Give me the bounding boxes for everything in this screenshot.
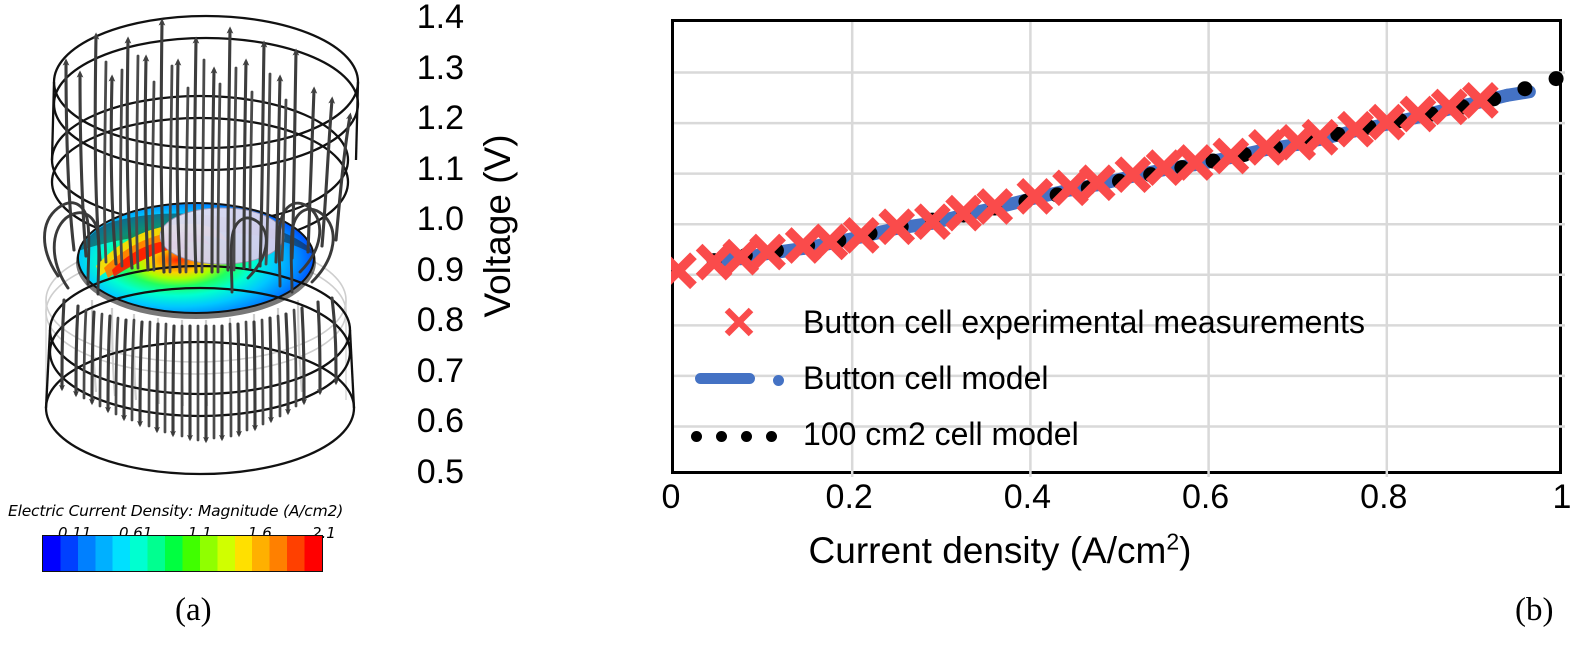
y-tick-1.0: 1.0 xyxy=(394,202,464,236)
panel-a: Electric Current Density: Magnitude (A/c… xyxy=(0,0,430,648)
3d-current-density-streamlines xyxy=(0,0,430,500)
x-axis-title: Current density (A/cm2) xyxy=(670,530,1330,572)
legend-key-blue-dashdot xyxy=(685,361,803,395)
legend-item-button-cell-model[interactable]: Button cell model xyxy=(685,356,1048,400)
legend-key-x-marker xyxy=(685,305,803,339)
black-dots-glyph xyxy=(691,431,791,441)
y-tick-0.6: 0.6 xyxy=(394,404,464,438)
x-tick-0.4: 0.4 xyxy=(987,480,1067,514)
y-axis-title: Voltage (V) xyxy=(477,96,519,356)
legend-item-experimental[interactable]: Button cell experimental measurements xyxy=(685,300,1365,344)
plot-area xyxy=(671,19,1562,474)
panel-b: Voltage (V) Current density (A/cm2) 0.50… xyxy=(430,0,1570,648)
x-tick-0.6: 0.6 xyxy=(1166,480,1246,514)
x-axis-title-superscript: 2 xyxy=(1166,529,1179,555)
x-tick-0: 0 xyxy=(631,480,711,514)
x-axis-title-tail: ) xyxy=(1179,530,1191,571)
panel-a-caption: (a) xyxy=(175,592,212,629)
y-tick-1.3: 1.3 xyxy=(394,51,464,85)
legend-item-100cm2-model[interactable]: 100 cm2 cell model xyxy=(685,412,1079,456)
y-tick-0.7: 0.7 xyxy=(394,354,464,388)
y-tick-1.1: 1.1 xyxy=(394,152,464,186)
panel-b-caption: (b) xyxy=(1515,592,1553,629)
blue-dash-glyph xyxy=(695,373,755,384)
y-tick-0.9: 0.9 xyxy=(394,253,464,287)
x-tick-0.8: 0.8 xyxy=(1344,480,1424,514)
figure-root: Electric Current Density: Magnitude (A/c… xyxy=(0,0,1570,648)
x-marker-icon xyxy=(723,306,755,338)
legend-label-button-cell-model: Button cell model xyxy=(803,362,1048,394)
y-tick-1.4: 1.4 xyxy=(394,0,464,34)
x-tick-0.2: 0.2 xyxy=(809,480,889,514)
x-axis-title-main: Current density (A/cm xyxy=(809,530,1167,571)
x-tick-1: 1 xyxy=(1522,480,1570,514)
colorbar-title: Electric Current Density: Magnitude (A/c… xyxy=(8,504,348,520)
y-tick-0.8: 0.8 xyxy=(394,303,464,337)
blue-dot-glyph xyxy=(773,375,784,386)
y-tick-1.2: 1.2 xyxy=(394,101,464,135)
legend-label-100cm2-model: 100 cm2 cell model xyxy=(803,418,1079,450)
legend-label-experimental: Button cell experimental measurements xyxy=(803,306,1365,338)
colorbar-gradient xyxy=(42,535,323,572)
legend-key-black-dots xyxy=(685,417,803,451)
y-tick-0.5: 0.5 xyxy=(394,455,464,489)
